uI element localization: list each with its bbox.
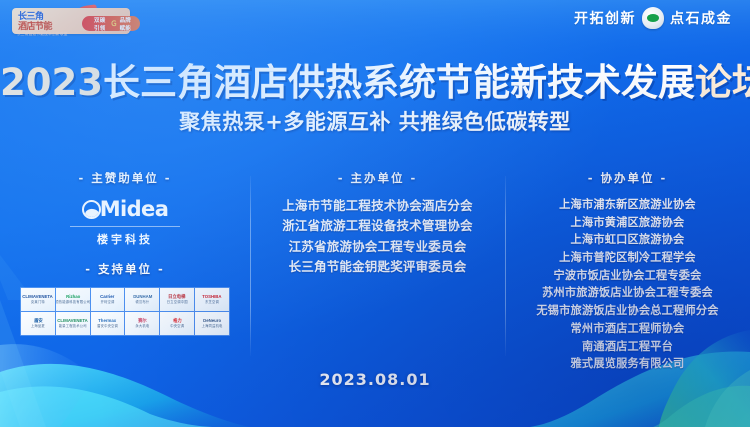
organizer-list: 上海市节能工程技术协会酒店分会浙江省旅游工程设备技术管理协会江苏省旅游协会工程专… [250,196,505,277]
supporter-logo-cell: 赛尔永大机电 [125,312,159,335]
page-subtitle: 聚焦热泵+多能源互补 共推绿色低碳转型 [0,106,750,136]
sponsor-columns: - 主赞助单位 - Midea 楼宇科技 - 支持单位 - CLIMAVENET… [0,170,750,370]
supporter-logo-cell: Rizhao顶热能源科技有限公司 [56,288,90,311]
supporter-logo-name: 日立电梯 [169,295,186,299]
event-badge: 长三角 酒店节能 长三角酒店节能技术创新联盟 双碳引领 Ｇ 品牌赋能 [12,6,140,40]
badge-ribbon-mark: Ｇ [110,19,117,29]
co-organizer-heading: - 协办单位 - [505,170,750,186]
supporter-logo-subtitle: 顶热能源科技有限公司 [56,301,90,304]
conference-poster: 长三角 酒店节能 长三角酒店节能技术创新联盟 双碳引领 Ｇ 品牌赋能 开拓创新 … [0,0,750,427]
slogan-right: 点石成金 [670,8,732,28]
supporter-logo-name: 盾安 [34,319,43,323]
supporter-logo-subtitle: 上海同益机电 [202,325,223,328]
slogan-group: 开拓创新 点石成金 [574,7,732,29]
supporter-logo-subtitle: 克莱门特 [31,301,45,304]
supporter-logo-grid: CLIMAVENETA克莱门特Rizhao顶热能源科技有限公司Carrier开利… [20,287,230,336]
supporter-logo-cell: 格力中央空调 [160,312,194,335]
supporter-logo-name: TOSHIBA [202,295,221,299]
list-item: 长三角节能金钥匙奖评审委员会 [256,257,499,277]
supporter-logo-name: DeNeuro [203,319,221,323]
list-item: 上海市节能工程技术协会酒店分会 [256,196,499,216]
column-sponsors: - 主赞助单位 - Midea 楼宇科技 - 支持单位 - CLIMAVENET… [0,170,250,370]
event-date: 2023.08.01 [0,370,750,389]
title-main: 长三角酒店供热系统节能新技术发展 [103,61,695,104]
supporter-logo-name: DUNHAM [133,295,152,299]
supporter-logo-cell: Carrier开利空调 [91,288,125,311]
supporter-logo-subtitle: 开利空调 [101,301,115,304]
list-item: 浙江省旅游工程设备技术管理协会 [256,216,499,236]
supporter-logo-name: Carrier [101,295,115,299]
list-item: 宁波市饭店业协会工程专委会 [511,267,744,285]
column-co-organizers: - 协办单位 - 上海市浦东新区旅游业协会上海市黄浦区旅游协会上海市虹口区旅游协… [505,170,750,370]
shield-emblem-icon [642,7,664,29]
supporter-heading: - 支持单位 - [0,261,250,277]
supporter-logo-name: Rizhao [66,295,80,299]
supporter-logo-cell: Thermax盾安中央空调 [91,312,125,335]
supporter-logo-subtitle: 上海品夏 [31,325,45,328]
organizer-heading: - 主办单位 - [250,170,505,186]
supporter-logo-subtitle: 能量工程技术公司 [59,325,87,328]
title-year: 2023 [0,61,103,104]
supporter-logo-cell: 盾安上海品夏 [21,312,55,335]
page-title: 2023长三角酒店供热系统节能新技术发展论坛 [0,52,750,106]
list-item: 上海市黄浦区旅游协会 [511,214,744,232]
badge-ribbon-right: 品牌赋能 [120,16,134,32]
midea-divider [70,226,180,227]
list-item: 上海市虹口区旅游协会 [511,231,744,249]
list-item: 苏州市旅游饭店业协会工程专委会 [511,284,744,302]
co-organizer-list: 上海市浦东新区旅游业协会上海市黄浦区旅游协会上海市虹口区旅游协会上海市普陀区制冷… [505,196,750,373]
supporter-logo-cell: 日立电梯日立空调中国 [160,288,194,311]
supporter-logo-subtitle: 日立空调中国 [167,301,188,304]
supporter-logo-name: CLIMAVENETA [58,319,88,323]
list-item: 无锡市旅游饭店业协会总工程师分会 [511,302,744,320]
supporter-logo-cell: CLIMAVENETA克莱门特 [21,288,55,311]
midea-sponsor-logo: Midea 楼宇科技 [66,196,184,247]
supporter-logo-subtitle: 东芝空调 [205,301,219,304]
list-item: 江苏省旅游协会工程专业委员会 [256,237,499,257]
supporter-logo-cell: TOSHIBA东芝空调 [195,288,229,311]
midea-chinese-name: 楼宇科技 [66,231,184,247]
midea-wordmark: Midea [100,197,169,221]
list-item: 上海市普陀区制冷工程学会 [511,249,744,267]
list-item: 南通酒店工程平台 [511,338,744,356]
supporter-logo-cell: DUNHAM顿汉布什 [125,288,159,311]
supporter-logo-cell: DeNeuro上海同益机电 [195,312,229,335]
supporter-logo-name: CLIMAVENETA [23,295,53,299]
slogan-left: 开拓创新 [574,8,636,28]
midea-ring-icon [82,200,101,219]
supporter-logo-subtitle: 盾安中央空调 [97,325,118,328]
supporter-logo-name: 赛尔 [138,319,147,323]
list-item: 上海市浦东新区旅游业协会 [511,196,744,214]
supporter-logo-cell: CLIMAVENETA能量工程技术公司 [56,312,90,335]
badge-ribbon: 双碳引领 Ｇ 品牌赋能 [82,16,140,31]
supporter-logo-name: Thermax [99,319,117,323]
list-item: 常州市酒店工程师协会 [511,320,744,338]
badge-subtitle: 长三角酒店节能技术创新联盟 [17,32,68,37]
badge-ribbon-left: 双碳引领 [94,16,108,32]
title-tail: 论坛 [695,61,750,104]
supporter-logo-subtitle: 永大机电 [135,325,149,328]
badge-line-2: 酒店节能 [18,19,52,32]
supporter-logo-subtitle: 中央空调 [170,325,184,328]
supporter-logo-subtitle: 顿汉布什 [135,301,149,304]
supporter-logo-name: 格力 [173,319,182,323]
column-organizers: - 主办单位 - 上海市节能工程技术协会酒店分会浙江省旅游工程设备技术管理协会江… [250,170,505,370]
sponsor-heading: - 主赞助单位 - [0,170,250,186]
